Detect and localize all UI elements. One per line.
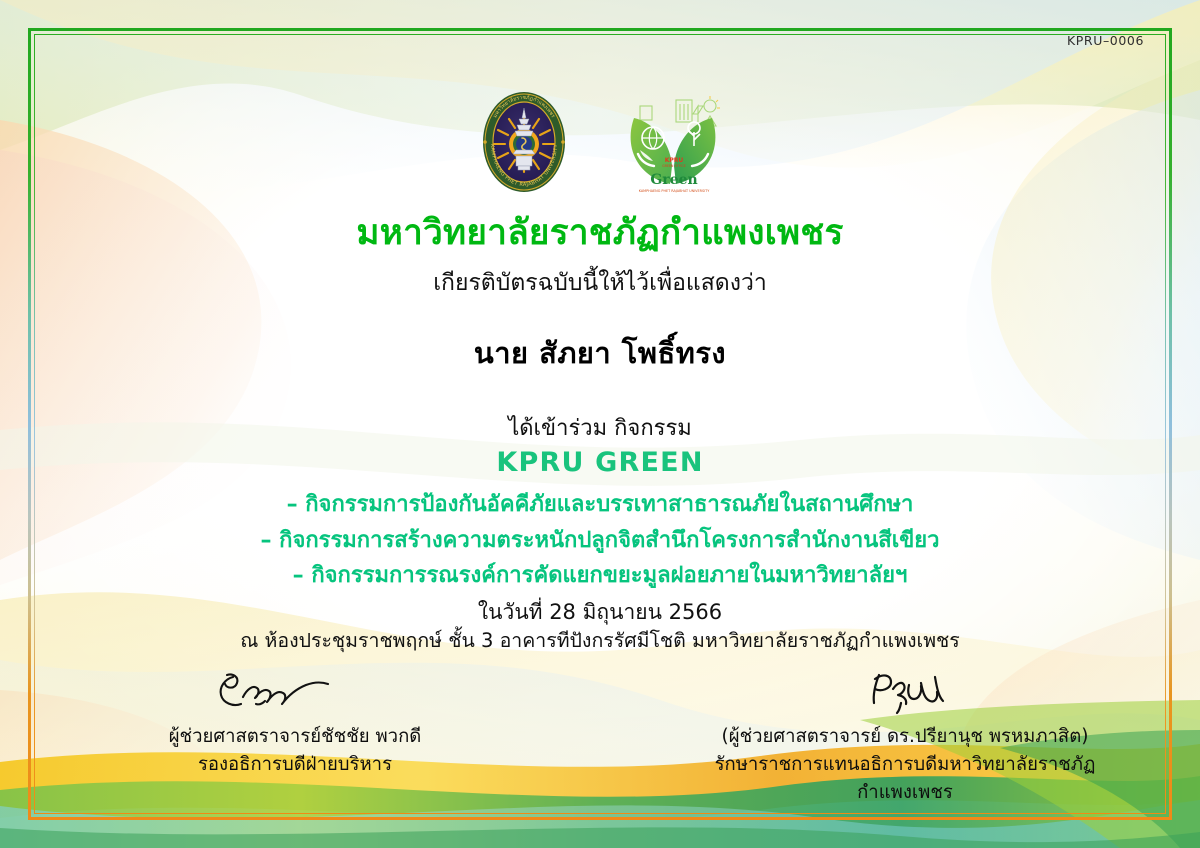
green-office-icon: KPRU GREEN OFFICE Green KAMPHAENG PHET R…: [618, 88, 730, 196]
certificate-statement: เกียรติบัตรฉบับนี้ให้ไว้เพื่อแสดงว่า: [0, 268, 1200, 299]
signature-row: ผู้ช่วยศาสตราจารย์ชัชชัย พวกดี รองอธิการ…: [60, 665, 1140, 806]
svg-text:KAMPHAENG PHET RAJABHAT UNIVER: KAMPHAENG PHET RAJABHAT UNIVERSITY: [639, 189, 711, 193]
activity-item: – กิจกรรมการรณรงค์การคัดแยกขยะมูลฝอยภายใ…: [0, 558, 1200, 594]
svg-text:Green: Green: [650, 172, 697, 188]
certificate-serial-number: KPRU–0006: [1067, 33, 1144, 48]
signature-block-right: (ผู้ช่วยศาสตราจารย์ ดร.ปรียานุช พรหมภาสิ…: [670, 665, 1140, 806]
svg-text:KPRU: KPRU: [665, 157, 684, 164]
signatory-role: รักษาราชการแทนอธิการบดีมหาวิทยาลัยราชภัฏ…: [670, 751, 1140, 807]
certificate-page: KPRU–0006: [0, 0, 1200, 848]
certificate-content: มหาวิทยาลัยราชภัฏกำแพงเพชร KAMPHAENG PHE…: [0, 0, 1200, 848]
signature-block-left: ผู้ช่วยศาสตราจารย์ชัชชัย พวกดี รองอธิการ…: [60, 665, 530, 806]
university-name-heading: มหาวิทยาลัยราชภัฏกำแพงเพชร: [0, 212, 1200, 254]
program-name: KPRU GREEN: [0, 447, 1200, 478]
signature-mark-left: [54, 665, 524, 723]
signatory-role: รองอธิการบดีฝ่ายบริหาร: [60, 751, 530, 779]
activity-item: – กิจกรรมการสร้างความตระหนักปลูกจิตสำนึก…: [0, 523, 1200, 559]
recipient-name: นาย สัภยา โพธิ์ทรง: [0, 330, 1200, 376]
university-seal-icon: มหาวิทยาลัยราชภัฏกำแพงเพชร KAMPHAENG PHE…: [470, 88, 578, 196]
signatory-name: ผู้ช่วยศาสตราจารย์ชัชชัย พวกดี: [60, 723, 530, 751]
signature-mark-right: [680, 665, 1150, 723]
activity-item: – กิจกรรมการป้องกันอัคคีภัยและบรรเทาสาธา…: [0, 487, 1200, 523]
event-venue: ณ ห้องประชุมราชพฤกษ์ ชั้น 3 อาคารทีปังกร…: [0, 625, 1200, 656]
svg-text:GREEN OFFICE: GREEN OFFICE: [662, 164, 685, 168]
participation-label: ได้เข้าร่วม กิจกรรม: [0, 410, 1200, 445]
signatory-name: (ผู้ช่วยศาสตราจารย์ ดร.ปรียานุช พรหมภาสิ…: [670, 723, 1140, 751]
activity-list: – กิจกรรมการป้องกันอัคคีภัยและบรรเทาสาธา…: [0, 487, 1200, 594]
logo-row: มหาวิทยาลัยราชภัฏกำแพงเพชร KAMPHAENG PHE…: [0, 88, 1200, 196]
